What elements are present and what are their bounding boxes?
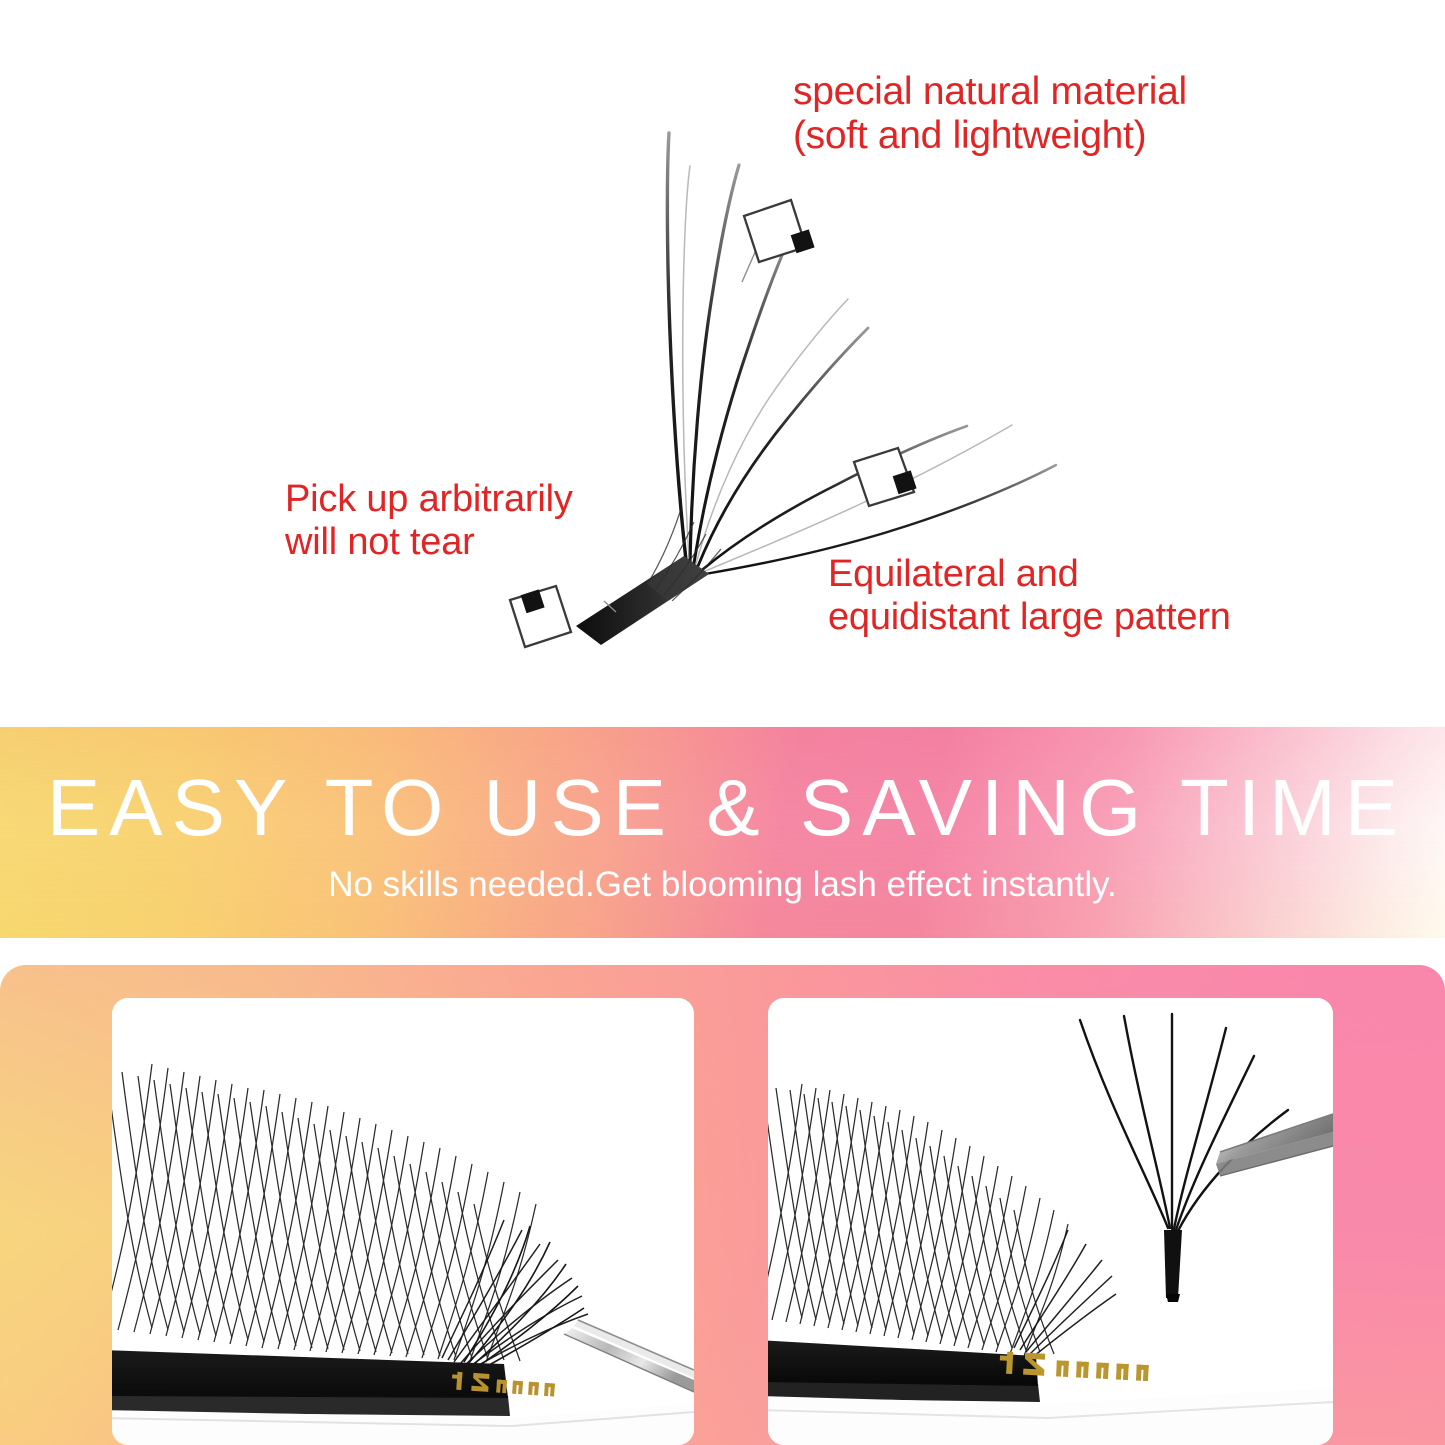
photo-showcase-panel [0, 938, 1445, 1445]
lash-tray-with-tweezers-image [112, 998, 694, 1445]
callout-pick-up-arbitrarily: Pick up arbitrarily will not tear [285, 478, 615, 563]
callout-equilateral-equidistant: Equilateral and equidistant large patter… [828, 553, 1278, 638]
lash-fan-diagram-panel: special natural material (soft and light… [0, 0, 1445, 727]
callout-marker-base [510, 586, 571, 647]
callout-marker-middle [854, 448, 917, 506]
detached-fan-with-tweezers-image [768, 998, 1333, 1445]
photo-detached-fan [768, 998, 1333, 1445]
lash-strands [667, 133, 1056, 574]
banner-title: EASY TO USE & SAVING TIME [38, 768, 1407, 848]
banner-text-group: EASY TO USE & SAVING TIME No skills need… [0, 727, 1445, 938]
product-infographic: special natural material (soft and light… [0, 0, 1445, 1445]
photo-lash-tray-tweezers [112, 998, 694, 1445]
callout-special-natural-material: special natural material (soft and light… [793, 70, 1263, 157]
banner-subtitle: No skills needed.Get blooming lash effec… [328, 867, 1117, 902]
easy-to-use-banner: EASY TO USE & SAVING TIME No skills need… [0, 727, 1445, 938]
lash-strands-soft [683, 166, 1012, 572]
